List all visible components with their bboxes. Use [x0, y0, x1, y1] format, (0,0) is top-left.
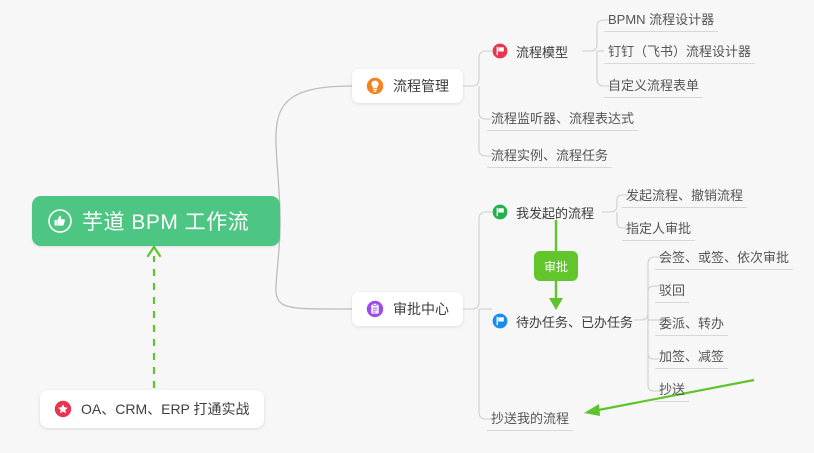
flag-red-icon	[492, 43, 508, 59]
leaf-label: 驳回	[655, 280, 689, 303]
subbranch-label: 流程模型	[516, 42, 568, 61]
leaf-label: 委派、转办	[655, 313, 728, 336]
leaf-assignee-approval[interactable]: 指定人审批	[622, 217, 695, 241]
lightbulb-icon	[366, 77, 384, 95]
branch-label: 流程管理	[393, 76, 449, 96]
leaf-label: 流程实例、流程任务	[487, 145, 612, 168]
leaf-cc-my-process[interactable]: 抄送我的流程	[487, 407, 573, 431]
wire-pm-to-model	[463, 51, 492, 86]
wire-callout-to-root	[148, 247, 160, 388]
approval-badge[interactable]: 审批	[534, 251, 578, 281]
callout-label: OA、CRM、ERP 打通实战	[81, 399, 250, 419]
thumbs-up-icon	[48, 209, 72, 233]
leaf-countersign-orsign-sequential[interactable]: 会签、或签、依次审批	[655, 246, 793, 270]
star-icon	[54, 400, 72, 418]
leaf-label: 发起流程、撤销流程	[622, 185, 747, 208]
branch-process-management[interactable]: 流程管理	[352, 69, 463, 103]
leaf-label: BPMN 流程设计器	[604, 9, 718, 32]
leaf-instance-task[interactable]: 流程实例、流程任务	[487, 144, 612, 168]
leaf-reject[interactable]: 驳回	[655, 279, 689, 303]
leaf-delegate-transfer[interactable]: 委派、转办	[655, 312, 728, 336]
approval-badge-label: 审批	[544, 258, 568, 275]
wire-ac-to-leaf0	[479, 309, 492, 419]
mindmap-canvas: 芋道 BPM 工作流 OA、CRM、ERP 打通实战 流程管理	[0, 0, 814, 453]
branch-label: 审批中心	[393, 299, 449, 319]
subbranch-my-initiated-process[interactable]: 我发起的流程	[492, 201, 594, 223]
leaf-label: 自定义流程表单	[604, 75, 703, 98]
subbranch-label: 待办任务、已办任务	[516, 312, 633, 331]
subbranch-todo-done-tasks[interactable]: 待办任务、已办任务	[492, 310, 633, 332]
leaf-dingtalk-feishu-designer[interactable]: 钉钉（飞书）流程设计器	[604, 40, 755, 64]
leaf-bpmn-designer[interactable]: BPMN 流程设计器	[604, 8, 718, 32]
leaf-label: 会签、或签、依次审批	[655, 247, 793, 270]
leaf-label: 流程监听器、流程表达式	[487, 108, 638, 131]
clipboard-icon	[366, 300, 384, 318]
flag-green-icon	[492, 204, 508, 220]
wire-root-to-process-management	[276, 86, 352, 221]
leaf-label: 抄送我的流程	[487, 408, 573, 431]
leaf-start-cancel-process[interactable]: 发起流程、撤销流程	[622, 184, 747, 208]
leaf-label: 抄送	[655, 379, 689, 402]
flag-blue-icon	[492, 313, 508, 329]
wire-ac-to-mine	[463, 212, 492, 309]
leaf-add-remove-sign[interactable]: 加签、减签	[655, 345, 728, 369]
leaf-custom-form[interactable]: 自定义流程表单	[604, 74, 703, 98]
subbranch-label: 我发起的流程	[516, 203, 594, 222]
leaf-label: 加签、减签	[655, 346, 728, 369]
wire-root-to-approval-center	[276, 221, 352, 309]
root-node[interactable]: 芋道 BPM 工作流	[32, 196, 280, 246]
callout-node-integration[interactable]: OA、CRM、ERP 打通实战	[40, 390, 264, 428]
leaf-listener-expression[interactable]: 流程监听器、流程表达式	[487, 107, 638, 131]
leaf-label: 钉钉（飞书）流程设计器	[604, 41, 755, 64]
root-label: 芋道 BPM 工作流	[82, 206, 249, 236]
leaf-label: 指定人审批	[622, 218, 695, 241]
branch-approval-center[interactable]: 审批中心	[352, 292, 463, 326]
subbranch-process-model[interactable]: 流程模型	[492, 40, 568, 62]
leaf-cc[interactable]: 抄送	[655, 378, 689, 402]
